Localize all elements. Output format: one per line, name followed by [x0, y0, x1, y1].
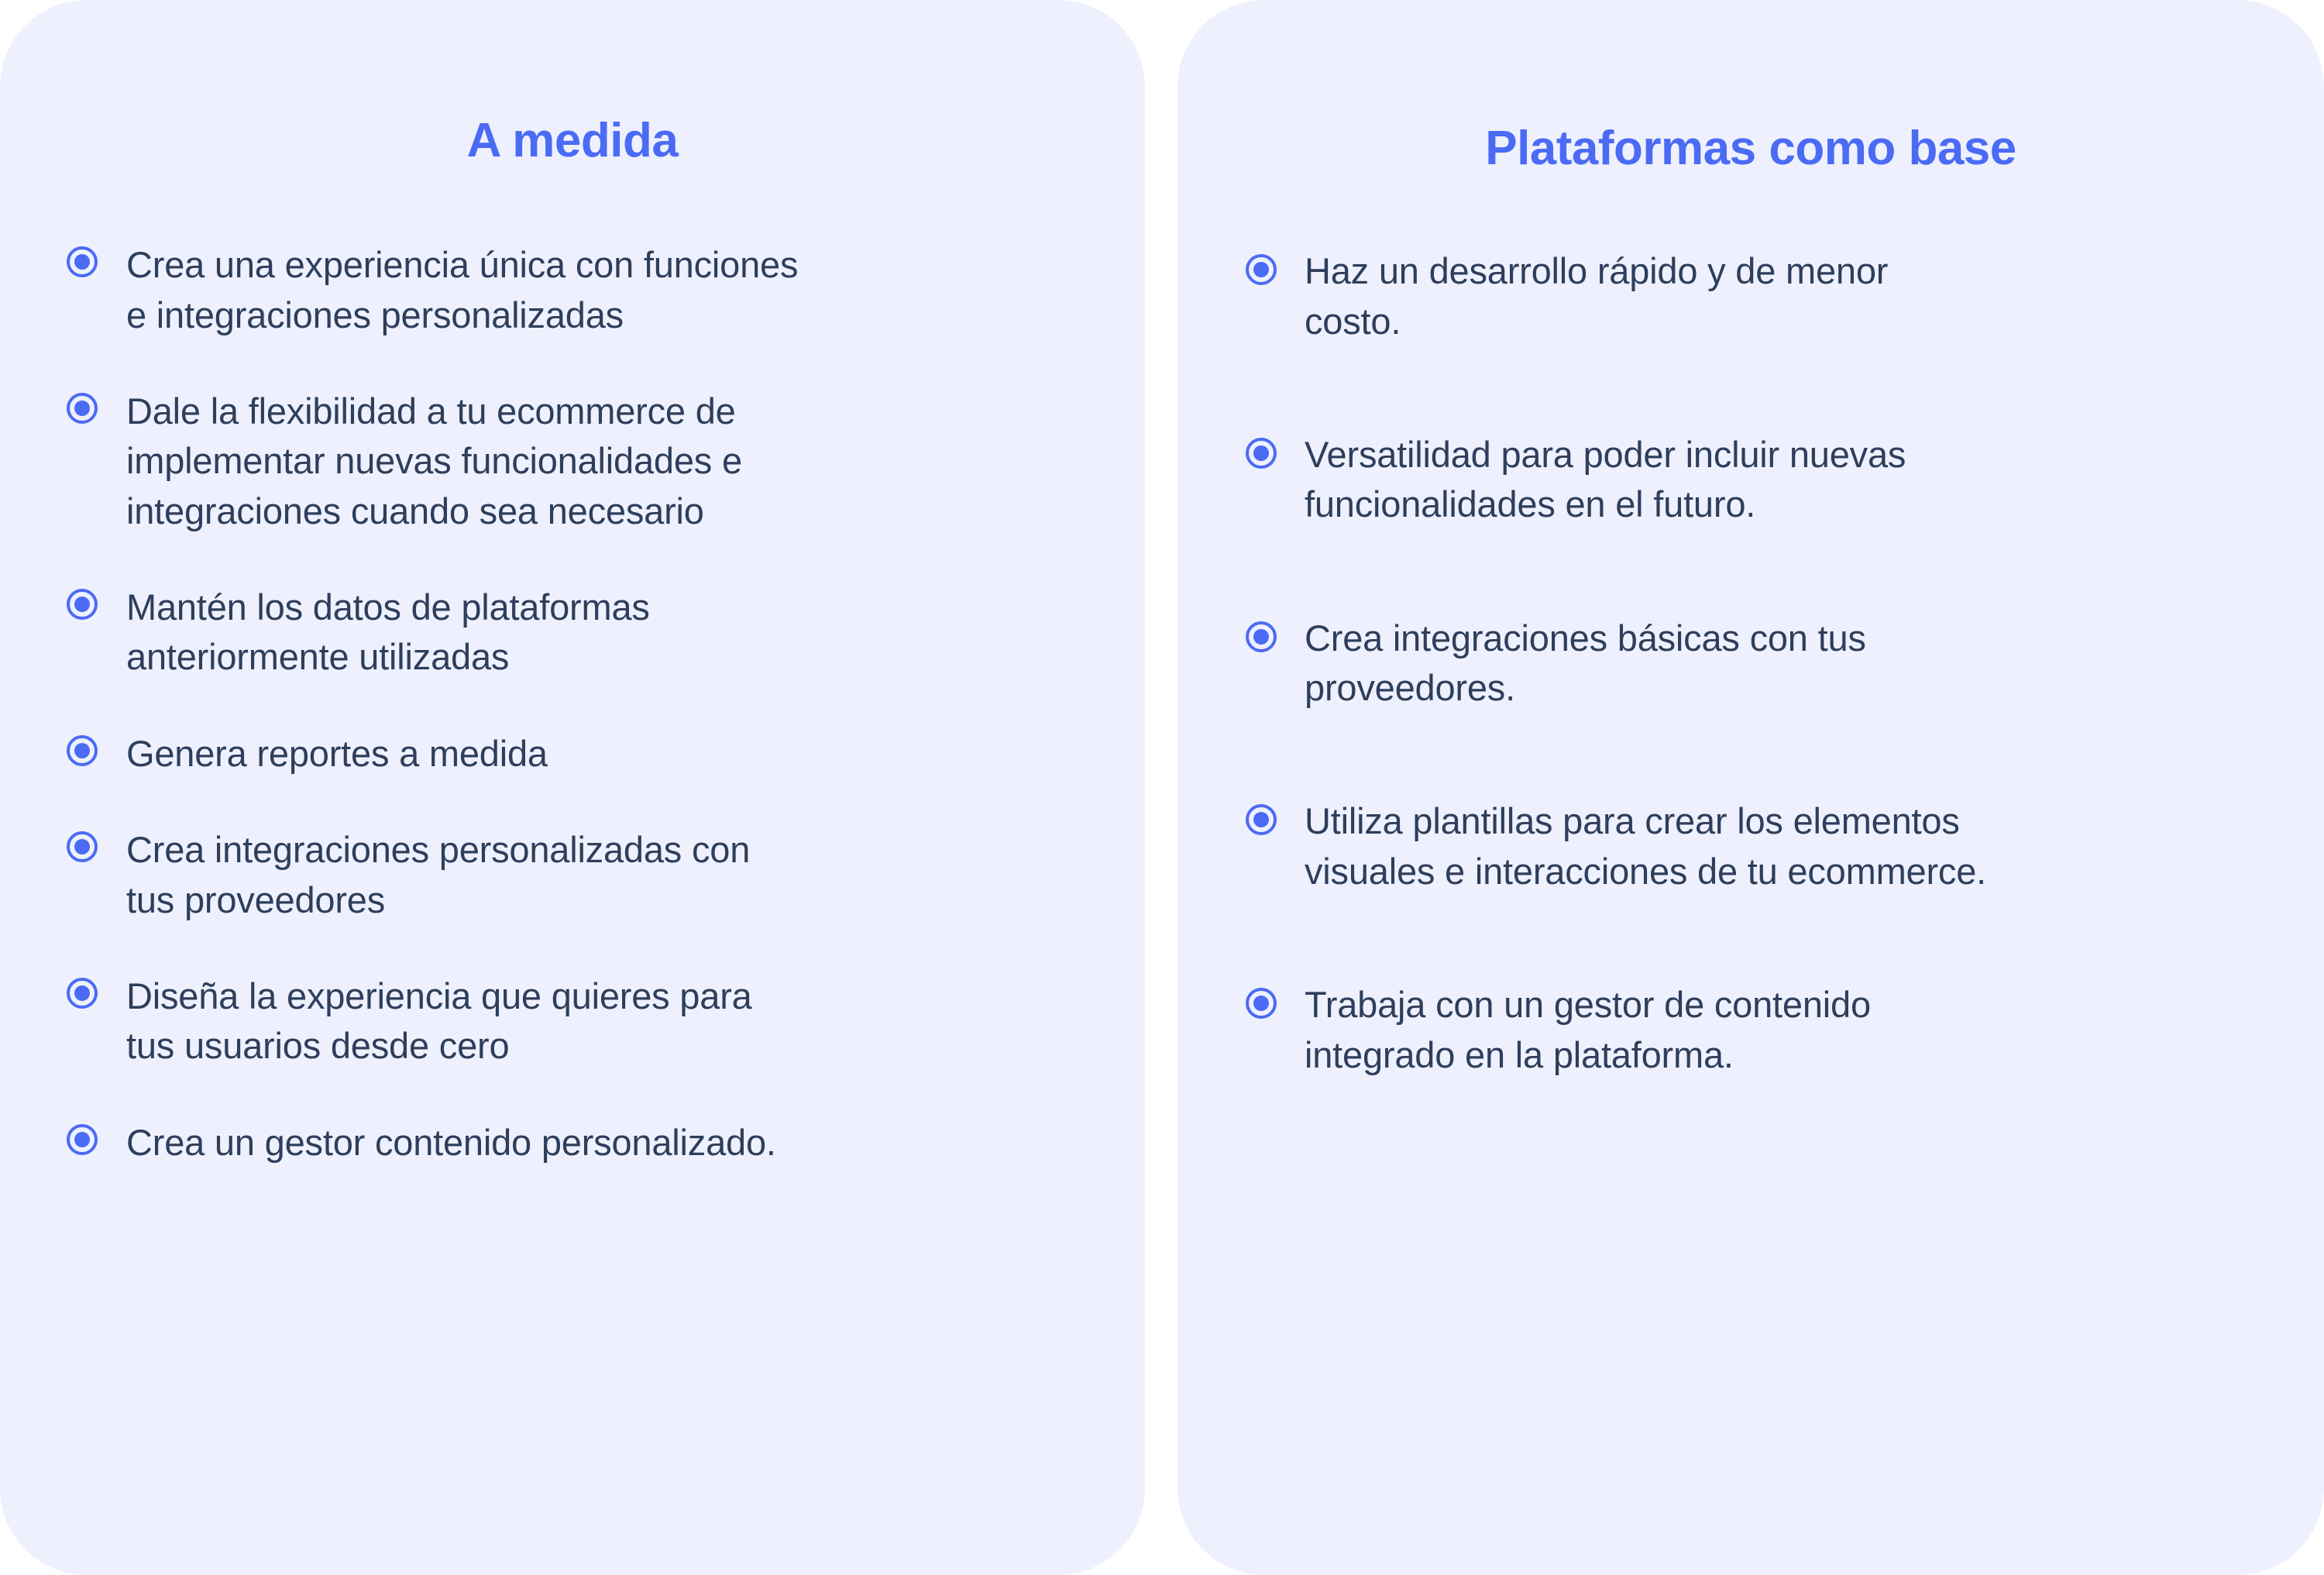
list-item: Crea integraciones básicas con tus prove…	[1246, 614, 2293, 714]
radio-selected-icon	[1246, 804, 1277, 835]
radio-selected-icon	[67, 735, 98, 766]
radio-selected-icon	[67, 589, 98, 620]
feature-list-plataformas-como-base: Haz un desarrollo rápido y de menor cost…	[1177, 246, 2324, 1080]
list-item-text: Crea un gestor contenido personalizado.	[126, 1118, 776, 1167]
list-item: Mantén los datos de plataformas anterior…	[67, 583, 1114, 683]
list-item: Versatilidad para poder incluir nuevas f…	[1246, 430, 2293, 530]
feature-list-a-medida: Crea una experiencia única con funciones…	[0, 240, 1145, 1167]
list-item-text: Utiliza plantillas para crear los elemen…	[1305, 796, 1986, 896]
radio-selected-icon	[1246, 621, 1277, 652]
list-item-text: Crea integraciones básicas con tus prove…	[1305, 614, 1866, 714]
radio-selected-icon	[67, 246, 98, 277]
list-item-text: Haz un desarrollo rápido y de menor cost…	[1305, 246, 1888, 346]
list-item-text: Trabaja con un gestor de contenido integ…	[1305, 980, 1871, 1080]
radio-selected-icon	[1246, 988, 1277, 1019]
card-title-plataformas-como-base: Plataformas como base	[1177, 0, 2324, 175]
list-item-text: Diseña la experiencia que quieres para t…	[126, 971, 752, 1071]
list-item: Crea integraciones personalizadas con tu…	[67, 825, 1114, 925]
list-item: Genera reportes a medida	[67, 729, 1114, 779]
radio-selected-icon	[67, 978, 98, 1009]
list-item: Crea una experiencia única con funciones…	[67, 240, 1114, 340]
list-item-text: Genera reportes a medida	[126, 729, 548, 779]
list-item-text: Mantén los datos de plataformas anterior…	[126, 583, 650, 683]
list-item-text: Versatilidad para poder incluir nuevas f…	[1305, 430, 1906, 530]
list-item-text: Crea integraciones personalizadas con tu…	[126, 825, 750, 925]
list-item-text: Crea una experiencia única con funciones…	[126, 240, 798, 340]
radio-selected-icon	[1246, 438, 1277, 469]
comparison-board: A medida Crea una experiencia única con …	[0, 0, 2324, 1575]
radio-selected-icon	[67, 1124, 98, 1155]
comparison-card-plataformas-como-base: Plataformas como base Haz un desarrollo …	[1177, 0, 2324, 1575]
radio-selected-icon	[67, 831, 98, 862]
radio-selected-icon	[1246, 254, 1277, 285]
list-item: Utiliza plantillas para crear los elemen…	[1246, 796, 2293, 896]
list-item: Diseña la experiencia que quieres para t…	[67, 971, 1114, 1071]
comparison-card-a-medida: A medida Crea una experiencia única con …	[0, 0, 1145, 1575]
radio-selected-icon	[67, 393, 98, 424]
list-item: Haz un desarrollo rápido y de menor cost…	[1246, 246, 2293, 346]
list-item: Trabaja con un gestor de contenido integ…	[1246, 980, 2293, 1080]
list-item: Crea un gestor contenido personalizado.	[67, 1118, 1114, 1167]
list-item-text: Dale la flexibilidad a tu ecommerce de i…	[126, 387, 742, 536]
list-item: Dale la flexibilidad a tu ecommerce de i…	[67, 387, 1114, 536]
card-title-a-medida: A medida	[0, 0, 1145, 167]
